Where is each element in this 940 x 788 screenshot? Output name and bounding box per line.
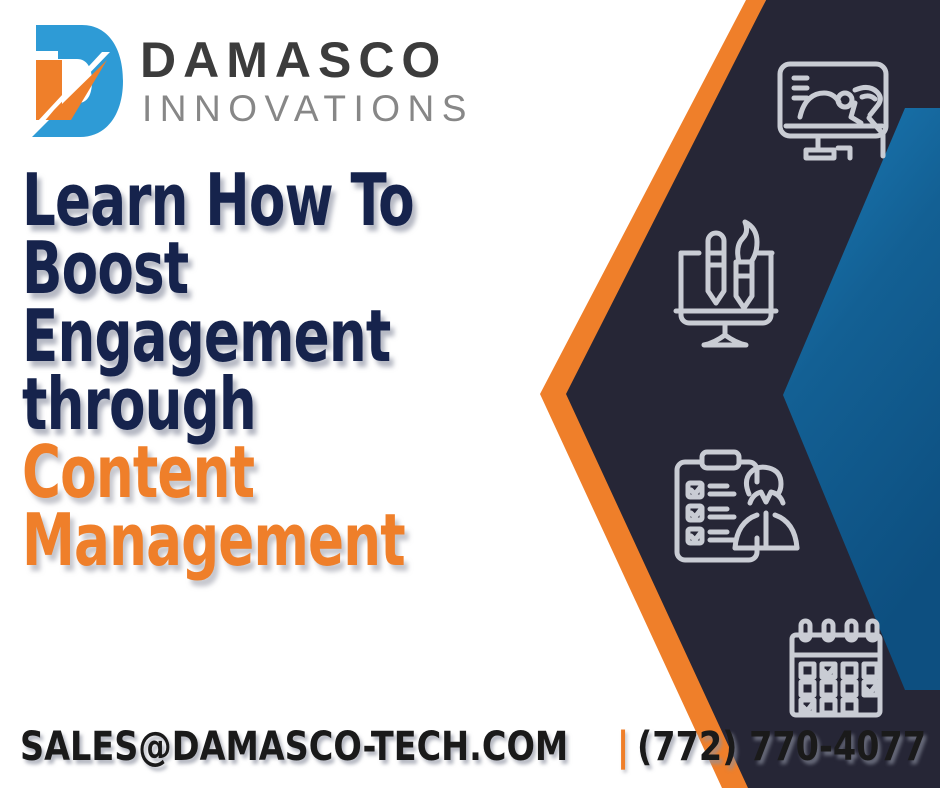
- promo-graphic: DAMASCO INNOVATIONS Learn How To Boost E…: [0, 0, 940, 788]
- headline-line-5: Content: [22, 438, 448, 506]
- contact-separator: |: [609, 727, 636, 767]
- headline-line-6: Management: [22, 506, 448, 574]
- contact-email[interactable]: SALES@DAMASCO-TECH.COM: [20, 727, 568, 767]
- headline-line-2: Boost: [22, 234, 448, 302]
- contact-bar: SALES@DAMASCO-TECH.COM | (772) 770-4077: [20, 727, 940, 767]
- headline-line-4: through: [22, 370, 448, 438]
- brand-logo: DAMASCO INNOVATIONS: [14, 22, 474, 140]
- headline: Learn How To Boost Engagement through Co…: [22, 166, 542, 574]
- brand-name-secondary: INNOVATIONS: [142, 90, 474, 127]
- headline-line-1: Learn How To: [22, 166, 448, 234]
- headline-line-3: Engagement: [22, 302, 448, 370]
- contact-phone[interactable]: (772) 770-4077: [637, 727, 926, 767]
- id-monogram-icon: [14, 22, 126, 140]
- brand-name-primary: DAMASCO: [140, 35, 474, 85]
